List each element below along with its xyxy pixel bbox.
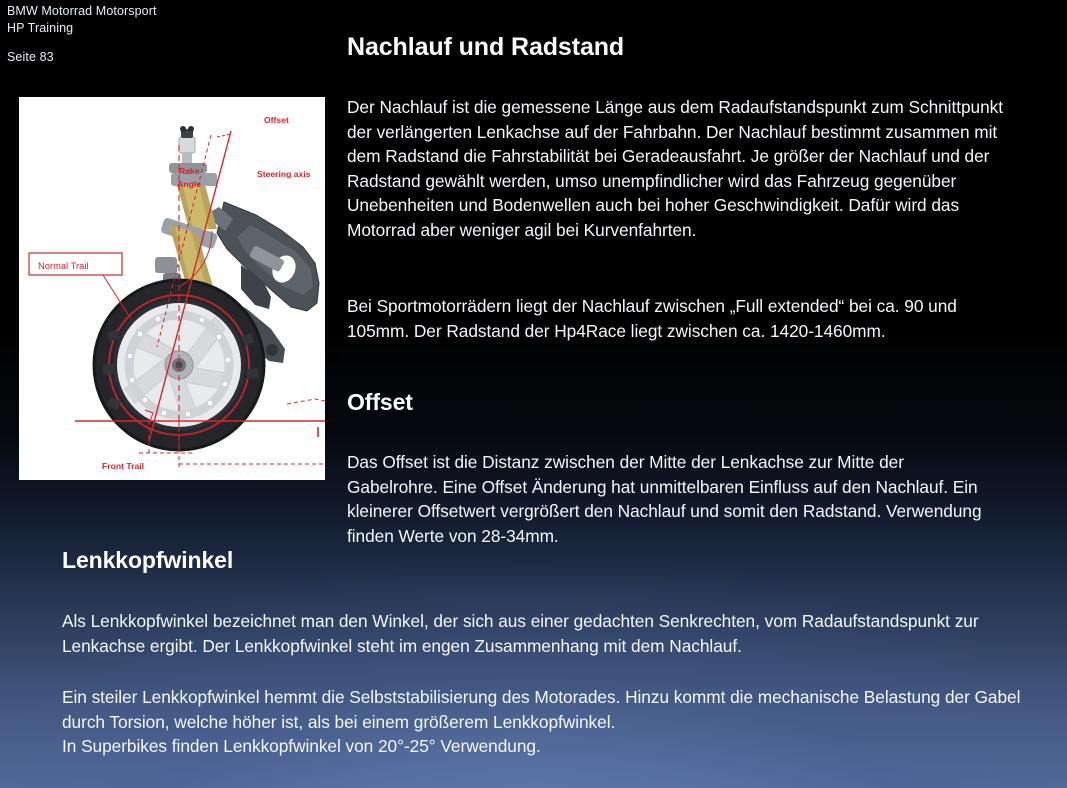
lenkkopfwinkel-heading: Lenkkopfwinkel xyxy=(62,547,233,574)
page-number: Seite 83 xyxy=(7,50,54,64)
lenkkopfwinkel-paragraph-1: Als Lenkkopfwinkel bezeichnet man den Wi… xyxy=(62,609,1037,658)
diagram-label-front-trail: Front Trail xyxy=(102,461,144,471)
diagram-svg: Offset Rake Angle Steering axis Normal T… xyxy=(19,97,325,480)
offset-paragraph-1: Das Offset ist die Distanz zwischen der … xyxy=(347,450,987,548)
lenkkopfwinkel-paragraph-2: Ein steiler Lenkkopfwinkel hemmt die Sel… xyxy=(62,685,1037,759)
nachlauf-paragraph-2: Bei Sportmotorrädern liegt der Nachlauf … xyxy=(347,294,1007,343)
diagram-label-normal-trail: Normal Trail xyxy=(38,260,89,271)
org-header: BMW Motorrad Motorsport HP Training xyxy=(7,3,157,36)
diagram-label-rake-angle-line2: Angle xyxy=(177,179,201,189)
diagram-label-rake-angle-line1: Rake xyxy=(179,166,200,176)
diagram-label-offset: Offset xyxy=(264,115,289,125)
offset-heading: Offset xyxy=(347,389,413,416)
diagram-label-steering-axis: Steering axis xyxy=(257,169,311,179)
nachlauf-paragraph-1: Der Nachlauf ist die gemessene Länge aus… xyxy=(347,95,1007,243)
page-title: Nachlauf und Radstand xyxy=(347,33,624,62)
motorcycle-front-geometry-diagram: Offset Rake Angle Steering axis Normal T… xyxy=(19,97,325,480)
slide-canvas: BMW Motorrad Motorsport HP Training Seit… xyxy=(0,0,1067,788)
